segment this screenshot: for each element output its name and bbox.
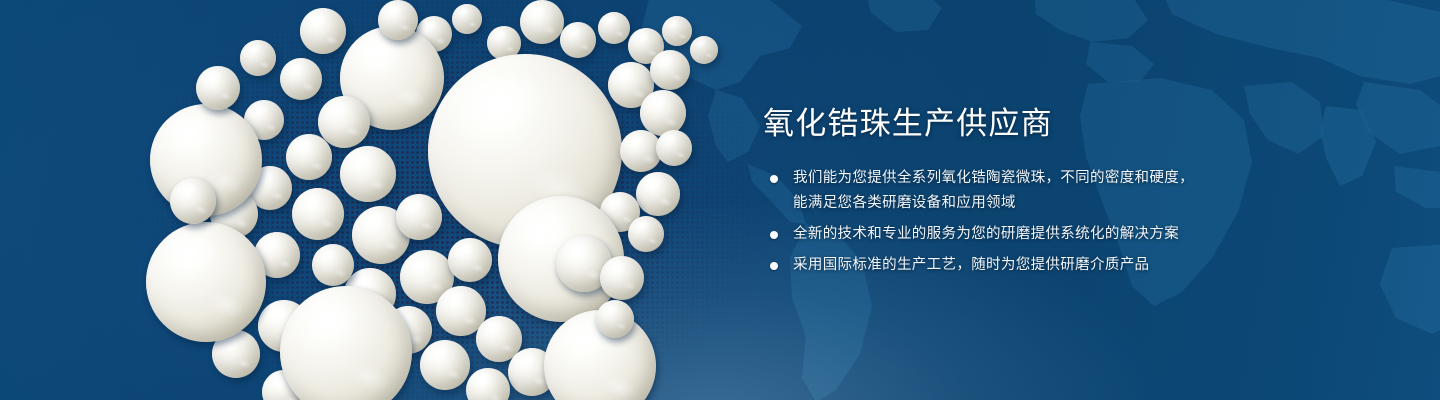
page-title: 氧化锆珠生产供应商: [763, 104, 1233, 144]
bullet-dot-icon: [770, 175, 778, 183]
bullet-dot-icon: [770, 262, 778, 270]
list-item-line-1: 我们能为您提供全系列氧化锆陶瓷微珠，不同的密度和硬度，: [793, 170, 1194, 186]
bullet-dot-icon: [770, 231, 778, 239]
list-item: 我们能为您提供全系列氧化锆陶瓷微珠，不同的密度和硬度， 能满足您各类研磨设备和应…: [763, 166, 1233, 216]
list-item-label: 我们能为您提供全系列氧化锆陶瓷微珠，不同的密度和硬度， 能满足您各类研磨设备和应…: [793, 166, 1233, 216]
list-item-line-1: 全新的技术和专业的服务为您的研磨提供系统化的解决方案: [793, 226, 1179, 242]
list-item: 采用国际标准的生产工艺，随时为您提供研磨介质产品: [763, 253, 1233, 278]
list-item-line-2: 能满足您各类研磨设备和应用领域: [793, 191, 1233, 216]
banner-text-block: 氧化锆珠生产供应商 我们能为您提供全系列氧化锆陶瓷微珠，不同的密度和硬度， 能满…: [763, 104, 1233, 278]
list-item-label: 采用国际标准的生产工艺，随时为您提供研磨介质产品: [793, 253, 1233, 278]
hero-banner: 氧化锆珠生产供应商 我们能为您提供全系列氧化锆陶瓷微珠，不同的密度和硬度， 能满…: [0, 0, 1440, 400]
feature-list: 我们能为您提供全系列氧化锆陶瓷微珠，不同的密度和硬度， 能满足您各类研磨设备和应…: [763, 166, 1233, 278]
list-item-line-1: 采用国际标准的生产工艺，随时为您提供研磨介质产品: [793, 257, 1149, 273]
list-item: 全新的技术和专业的服务为您的研磨提供系统化的解决方案: [763, 222, 1233, 247]
list-item-label: 全新的技术和专业的服务为您的研磨提供系统化的解决方案: [793, 222, 1233, 247]
